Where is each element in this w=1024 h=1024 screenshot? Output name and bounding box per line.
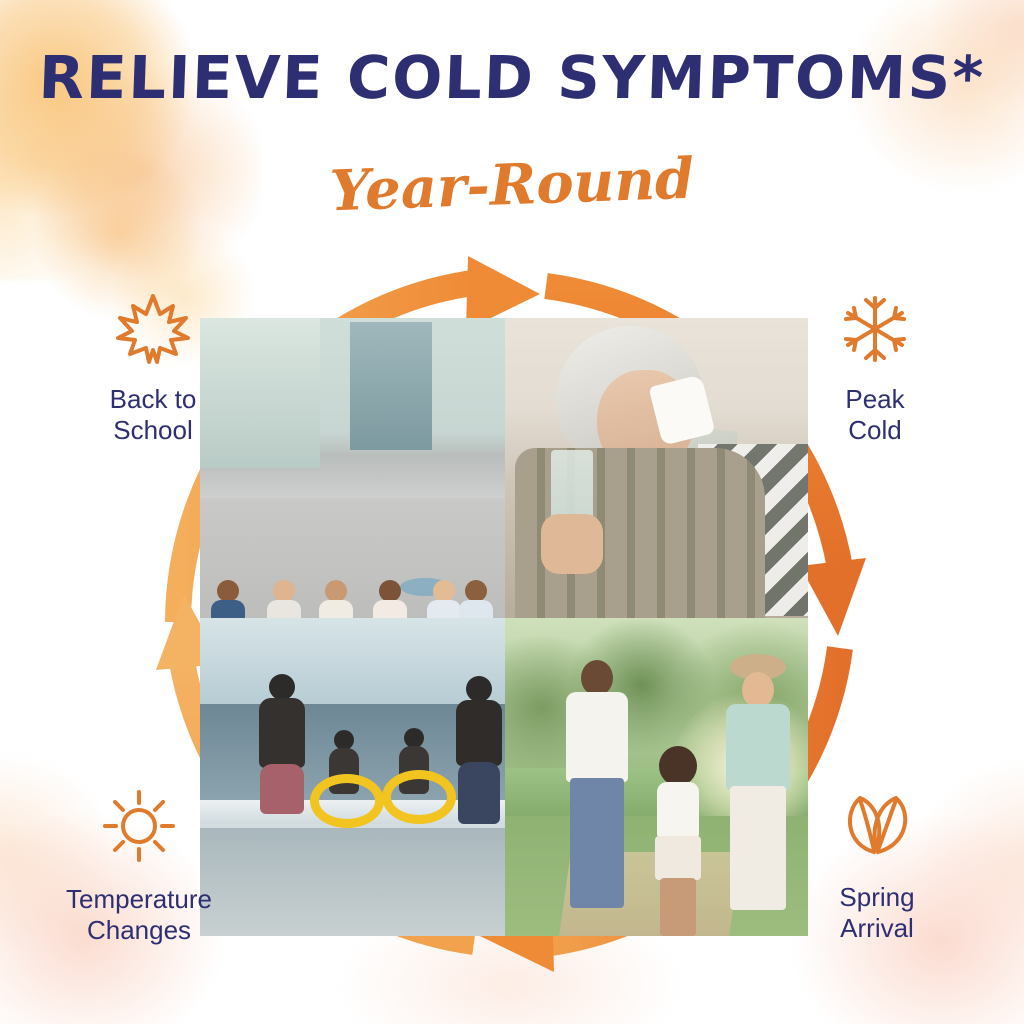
corner-label-line1: Back to (48, 384, 258, 416)
photo-spring-arrival (505, 618, 808, 936)
corner-label-temperature-changes: Temperature Changes (34, 786, 244, 947)
corner-label-back-to-school: Back to School (48, 292, 258, 447)
corner-label-line1: Peak (770, 384, 980, 416)
subheadline: Year-Round (0, 134, 1024, 236)
corner-label-line2: Cold (770, 415, 980, 447)
photo-grid (200, 318, 808, 936)
photo-temperature-changes (200, 618, 505, 936)
leaves-icon (772, 786, 982, 872)
corner-label-peak-cold: Peak Cold (770, 292, 980, 447)
corner-label-line2: School (48, 415, 258, 447)
watercolor-wash-top-left (0, 0, 260, 280)
corner-label-line1: Temperature (34, 884, 244, 916)
corner-label-line1: Spring (772, 882, 982, 914)
headline: RELIEVE COLD SYMPTOMS* (0, 48, 1024, 107)
corner-label-line2: Changes (34, 915, 244, 947)
maple-leaf-icon (48, 292, 258, 374)
sun-icon (34, 786, 244, 874)
photo-peak-cold (505, 318, 808, 618)
snowflake-icon (770, 292, 980, 374)
poster-canvas: RELIEVE COLD SYMPTOMS* Year-Round (0, 0, 1024, 1024)
watercolor-wash-top-right (784, 0, 1024, 250)
corner-label-spring-arrival: Spring Arrival (772, 786, 982, 945)
corner-label-line2: Arrival (772, 913, 982, 945)
